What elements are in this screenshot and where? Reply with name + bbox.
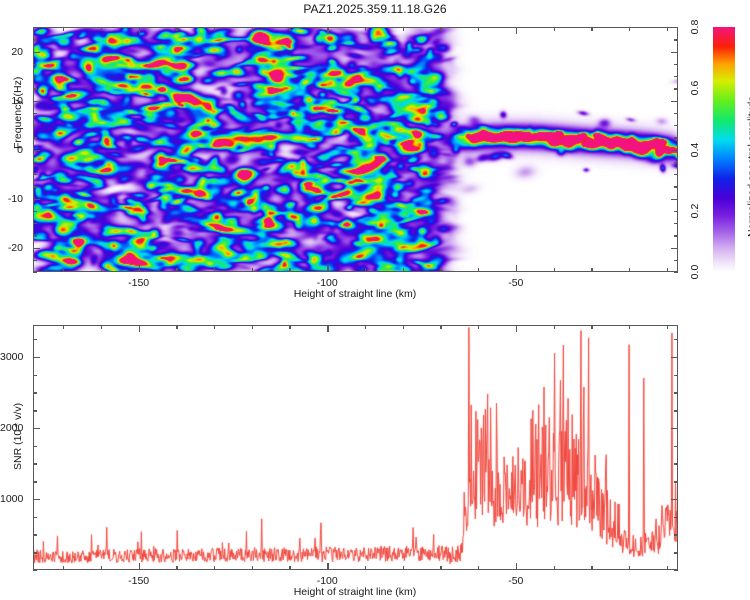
y-major-tick xyxy=(33,428,40,429)
x-minor-tick xyxy=(214,268,215,272)
y-minor-tick xyxy=(33,39,37,40)
x-minor-tick xyxy=(403,27,404,31)
x-minor-tick xyxy=(101,27,102,31)
x-minor-tick xyxy=(403,268,404,272)
x-minor-tick xyxy=(403,325,404,329)
y-tick-label: -20 xyxy=(0,242,23,254)
y-minor-tick xyxy=(674,76,678,77)
x-minor-tick xyxy=(252,325,253,329)
y-minor-tick xyxy=(674,39,678,40)
y-minor-tick xyxy=(674,113,678,114)
page-title: PAZ1.2025.359.11.18.G26 xyxy=(0,2,750,16)
x-minor-tick xyxy=(554,27,555,31)
y-major-tick xyxy=(33,52,40,53)
x-minor-tick xyxy=(440,566,441,570)
x-major-tick xyxy=(516,325,517,332)
snr-axes xyxy=(33,325,678,570)
y-minor-tick xyxy=(33,174,37,175)
snr-line-plot xyxy=(34,326,678,570)
x-minor-tick xyxy=(629,566,630,570)
x-minor-tick xyxy=(63,268,64,272)
y-tick-label: 20 xyxy=(0,46,23,58)
y-major-tick xyxy=(671,499,678,500)
y-minor-tick xyxy=(674,137,678,138)
x-major-tick xyxy=(516,265,517,272)
y-major-tick xyxy=(33,357,40,358)
x-major-tick xyxy=(327,325,328,332)
y-major-tick xyxy=(671,357,678,358)
y-minor-tick xyxy=(33,534,37,535)
x-minor-tick xyxy=(403,566,404,570)
x-minor-tick xyxy=(101,325,102,329)
y-minor-tick xyxy=(33,125,37,126)
y-minor-tick xyxy=(33,162,37,163)
y-minor-tick xyxy=(674,64,678,65)
x-tick-label: -150 xyxy=(128,277,149,289)
x-minor-tick xyxy=(289,566,290,570)
x-major-tick xyxy=(327,265,328,272)
x-minor-tick xyxy=(629,27,630,31)
y-major-tick xyxy=(671,428,678,429)
y-minor-tick xyxy=(33,392,37,393)
y-major-tick xyxy=(33,248,40,249)
spectrogram-x-axis-label: Height of straight line (km) xyxy=(294,288,417,300)
x-tick-label: -50 xyxy=(508,575,523,587)
y-minor-tick xyxy=(33,552,37,553)
x-minor-tick xyxy=(63,27,64,31)
y-major-tick xyxy=(671,52,678,53)
x-minor-tick xyxy=(667,27,668,31)
y-minor-tick xyxy=(33,463,37,464)
x-major-tick xyxy=(327,563,328,570)
y-minor-tick xyxy=(33,186,37,187)
colorbar-label: Normalized spectral amplitude xyxy=(746,96,750,237)
colorbar xyxy=(713,27,735,272)
y-minor-tick xyxy=(674,223,678,224)
x-minor-tick xyxy=(252,268,253,272)
colorbar-tick-label: 0.2 xyxy=(689,199,701,223)
x-minor-tick xyxy=(478,268,479,272)
colorbar-gradient xyxy=(713,27,735,272)
x-minor-tick xyxy=(176,325,177,329)
y-minor-tick xyxy=(674,339,678,340)
y-minor-tick xyxy=(33,446,37,447)
y-minor-tick xyxy=(33,410,37,411)
x-minor-tick xyxy=(365,268,366,272)
x-minor-tick xyxy=(365,325,366,329)
x-minor-tick xyxy=(101,268,102,272)
y-minor-tick xyxy=(33,211,37,212)
x-minor-tick xyxy=(554,325,555,329)
x-minor-tick xyxy=(440,27,441,31)
spectrogram-image xyxy=(34,28,678,272)
y-minor-tick xyxy=(33,481,37,482)
y-minor-tick xyxy=(674,481,678,482)
x-minor-tick xyxy=(176,566,177,570)
x-minor-tick xyxy=(252,566,253,570)
x-minor-tick xyxy=(289,27,290,31)
y-major-tick xyxy=(671,248,678,249)
y-tick-label: 1000 xyxy=(0,493,23,505)
snr-y-axis-label: SNR (10 * v/v) xyxy=(12,403,24,470)
x-major-tick xyxy=(139,563,140,570)
x-minor-tick xyxy=(554,566,555,570)
x-minor-tick xyxy=(591,27,592,31)
y-minor-tick xyxy=(674,552,678,553)
x-minor-tick xyxy=(440,325,441,329)
y-minor-tick xyxy=(674,211,678,212)
y-minor-tick xyxy=(33,88,37,89)
x-minor-tick xyxy=(365,566,366,570)
colorbar-tick-label: 0.4 xyxy=(689,138,701,162)
y-minor-tick xyxy=(33,375,37,376)
x-minor-tick xyxy=(629,268,630,272)
x-minor-tick xyxy=(667,566,668,570)
y-minor-tick xyxy=(674,272,678,273)
figure-canvas: PAZ1.2025.359.11.18.G26 -150-100-50-20-1… xyxy=(0,0,750,600)
x-tick-label: -150 xyxy=(128,575,149,587)
x-minor-tick xyxy=(214,566,215,570)
y-minor-tick xyxy=(33,272,37,273)
y-minor-tick xyxy=(674,392,678,393)
x-major-tick xyxy=(139,325,140,332)
y-minor-tick xyxy=(674,534,678,535)
y-minor-tick xyxy=(674,410,678,411)
y-minor-tick xyxy=(33,137,37,138)
y-minor-tick xyxy=(674,162,678,163)
y-minor-tick xyxy=(33,76,37,77)
y-minor-tick xyxy=(33,260,37,261)
y-tick-label: 3000 xyxy=(0,351,23,363)
x-minor-tick xyxy=(365,27,366,31)
x-minor-tick xyxy=(176,268,177,272)
x-minor-tick xyxy=(478,27,479,31)
y-major-tick xyxy=(33,499,40,500)
x-minor-tick xyxy=(63,566,64,570)
x-major-tick xyxy=(327,27,328,34)
x-minor-tick xyxy=(591,566,592,570)
x-minor-tick xyxy=(667,268,668,272)
y-minor-tick xyxy=(674,186,678,187)
y-major-tick xyxy=(671,101,678,102)
x-minor-tick xyxy=(176,27,177,31)
snr-x-axis-label: Height of straight line (km) xyxy=(294,586,417,598)
y-minor-tick xyxy=(674,375,678,376)
colorbar-tick-label: 0.8 xyxy=(689,15,701,39)
y-tick-label: -10 xyxy=(0,193,23,205)
x-major-tick xyxy=(139,265,140,272)
y-minor-tick xyxy=(674,27,678,28)
spectrogram-axes xyxy=(33,27,678,272)
x-major-tick xyxy=(139,27,140,34)
y-minor-tick xyxy=(33,64,37,65)
y-minor-tick xyxy=(674,463,678,464)
y-minor-tick xyxy=(33,570,37,571)
y-minor-tick xyxy=(33,517,37,518)
x-minor-tick xyxy=(289,268,290,272)
y-minor-tick xyxy=(33,223,37,224)
y-minor-tick xyxy=(674,446,678,447)
x-major-tick xyxy=(516,27,517,34)
y-minor-tick xyxy=(674,88,678,89)
y-minor-tick xyxy=(674,125,678,126)
x-minor-tick xyxy=(214,325,215,329)
x-minor-tick xyxy=(667,325,668,329)
x-minor-tick xyxy=(478,566,479,570)
y-minor-tick xyxy=(674,570,678,571)
x-minor-tick xyxy=(591,325,592,329)
y-minor-tick xyxy=(33,113,37,114)
y-minor-tick xyxy=(674,260,678,261)
x-minor-tick xyxy=(478,325,479,329)
x-minor-tick xyxy=(554,268,555,272)
x-minor-tick xyxy=(214,27,215,31)
y-major-tick xyxy=(33,150,40,151)
colorbar-tick-label: 0.0 xyxy=(689,260,701,284)
y-major-tick xyxy=(33,199,40,200)
y-minor-tick xyxy=(674,517,678,518)
x-minor-tick xyxy=(289,325,290,329)
y-major-tick xyxy=(671,199,678,200)
x-minor-tick xyxy=(63,325,64,329)
x-minor-tick xyxy=(252,27,253,31)
spectrogram-y-axis-label: Frequency (Hz) xyxy=(12,77,24,149)
y-minor-tick xyxy=(674,235,678,236)
x-minor-tick xyxy=(101,566,102,570)
y-major-tick xyxy=(33,101,40,102)
y-minor-tick xyxy=(674,174,678,175)
x-minor-tick xyxy=(440,268,441,272)
y-major-tick xyxy=(671,150,678,151)
x-major-tick xyxy=(516,563,517,570)
y-minor-tick xyxy=(33,235,37,236)
x-minor-tick xyxy=(629,325,630,329)
x-tick-label: -50 xyxy=(508,277,523,289)
y-minor-tick xyxy=(33,339,37,340)
x-minor-tick xyxy=(591,268,592,272)
y-minor-tick xyxy=(33,27,37,28)
colorbar-tick-label: 0.6 xyxy=(689,76,701,100)
